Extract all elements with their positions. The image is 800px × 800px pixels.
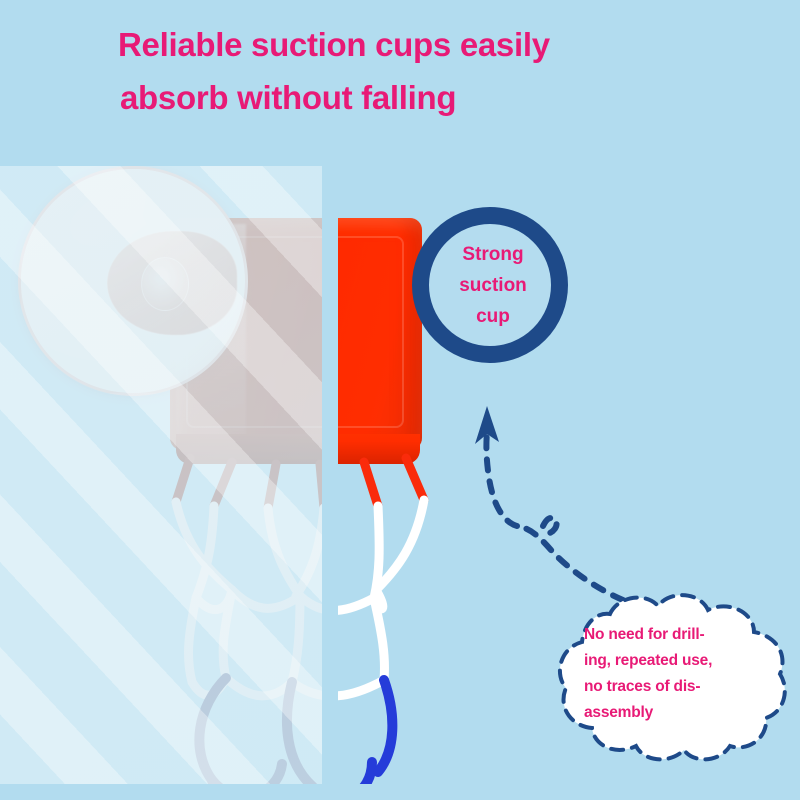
badge-line-2: suction (429, 270, 551, 301)
badge-line-3: cup (429, 301, 551, 332)
dashed-arrow-icon (455, 400, 625, 620)
hoop-scene-faded (0, 166, 322, 784)
callout-line-3: no traces of dis- (584, 674, 770, 700)
headline-line-2: absorb without falling (120, 71, 778, 124)
callout-text: No need for drill- ing, repeated use, no… (584, 622, 770, 726)
callout-line-1: No need for drill- (584, 622, 770, 648)
photo-panel-left-faded (0, 166, 322, 784)
product-feature-image: Reliable suction cups easily absorb with… (0, 0, 800, 800)
badge-line-1: Strong (429, 239, 551, 270)
callout-line-4: assembly (584, 700, 770, 726)
callout-cloud: No need for drill- ing, repeated use, no… (548, 588, 792, 768)
headline-line-1: Reliable suction cups easily (118, 18, 778, 71)
strong-suction-cup-badge: Strong suction cup (412, 207, 568, 363)
suction-cup-hub (141, 257, 189, 311)
callout-line-2: ing, repeated use, (584, 648, 770, 674)
suction-cup-disc (18, 166, 248, 396)
page-title: Reliable suction cups easily absorb with… (118, 18, 778, 124)
